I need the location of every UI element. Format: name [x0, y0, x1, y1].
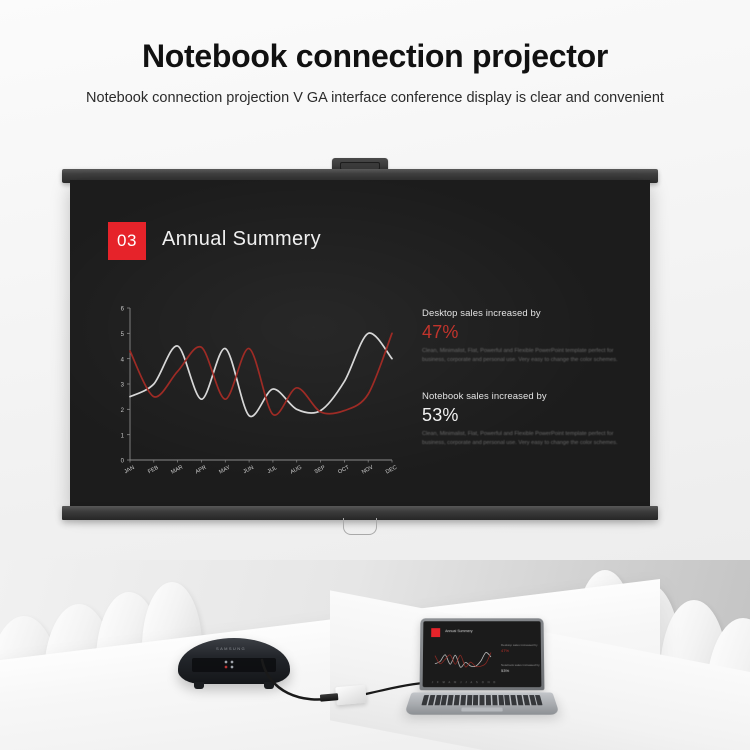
stats-panel: Desktop sales increased by 47% Clean, Mi… [422, 308, 622, 474]
svg-text:1: 1 [121, 433, 125, 439]
stat-body-text: Clean, Minimalist, Flat, Powerful and Fl… [422, 430, 622, 448]
projector-brand-label: SAMSUNG [216, 646, 246, 651]
slide-title: Annual Summery [162, 228, 321, 251]
svg-text:FEB: FEB [147, 465, 160, 476]
svg-text:MAR: MAR [170, 465, 184, 476]
stat-block-desktop: Desktop sales increased by 47% Clean, Mi… [422, 308, 622, 365]
svg-text:AUG: AUG [289, 465, 303, 476]
svg-text:NOV: NOV [361, 464, 375, 475]
stat-value: 53% [422, 406, 622, 424]
projector-foot [264, 682, 274, 689]
svg-text:4: 4 [121, 357, 125, 363]
projector-indicator-lights [224, 660, 240, 670]
page-subtitle: Notebook connection projection V GA inte… [45, 88, 705, 109]
laptop-stat-heading: Desktop sales increased by [501, 643, 541, 647]
laptop-stat-value: 53% [501, 669, 509, 673]
conference-room-scene: SAMSUNG [0, 560, 750, 750]
slide-number-badge: 03 [108, 222, 146, 260]
header: Notebook connection projector Notebook c… [0, 0, 750, 150]
svg-text:JUN: JUN [242, 465, 254, 475]
laptop-screen: Annual Summery J F M A M J J A S O N D D… [423, 621, 542, 687]
stat-body-text: Clean, Minimalist, Flat, Powerful and Fl… [422, 347, 622, 365]
svg-text:OCT: OCT [337, 464, 351, 475]
chart-svg: 0123456JANFEBMARAPRMAYJUNJULAUGSEPOCTNOV… [108, 302, 398, 480]
laptop-device: Annual Summery J F M A M J J A S O N D D… [408, 618, 556, 720]
stat-heading: Notebook sales increased by [422, 391, 622, 402]
stat-value: 47% [422, 323, 622, 341]
svg-text:JUL: JUL [267, 465, 279, 475]
laptop-trackpad[interactable] [461, 708, 503, 712]
vga-adapter [335, 685, 366, 706]
projector-device: SAMSUNG [178, 638, 290, 684]
stat-heading: Desktop sales increased by [422, 308, 622, 319]
page-root: Notebook connection projector Notebook c… [0, 0, 750, 750]
laptop-base [404, 692, 560, 714]
laptop-lid: Annual Summery J F M A M J J A S O N D D… [420, 618, 545, 690]
svg-text:DEC: DEC [385, 465, 398, 476]
laptop-mini-chart [431, 645, 493, 679]
svg-text:0: 0 [121, 459, 125, 465]
projector-foot [194, 682, 204, 689]
screen-surface: 03 Annual Summery 0123456JANFEBMARAPRMAY… [70, 180, 650, 508]
svg-text:MAY: MAY [218, 465, 231, 476]
laptop-stat-heading: Notebook sales increased by [501, 663, 541, 667]
stat-block-notebook: Notebook sales increased by 53% Clean, M… [422, 391, 622, 448]
screen-pull-handle[interactable] [343, 518, 377, 535]
svg-text:3: 3 [121, 383, 125, 389]
laptop-stat-value: 47% [501, 649, 509, 653]
laptop-mini-months: J F M A M J J A S O N D [432, 681, 497, 684]
laptop-slide-badge [431, 628, 440, 637]
projector-screen: 03 Annual Summery 0123456JANFEBMARAPRMAY… [62, 158, 658, 558]
page-title: Notebook connection projector [0, 38, 750, 75]
svg-text:6: 6 [121, 307, 125, 313]
laptop-slide-title: Annual Summery [445, 629, 472, 633]
svg-text:2: 2 [121, 408, 125, 414]
line-chart: 0123456JANFEBMARAPRMAYJUNJULAUGSEPOCTNOV… [108, 302, 398, 480]
svg-text:5: 5 [121, 332, 125, 338]
svg-text:SEP: SEP [314, 465, 327, 476]
svg-text:JAN: JAN [123, 465, 135, 475]
svg-text:APR: APR [194, 465, 207, 476]
laptop-keyboard[interactable] [421, 695, 542, 705]
